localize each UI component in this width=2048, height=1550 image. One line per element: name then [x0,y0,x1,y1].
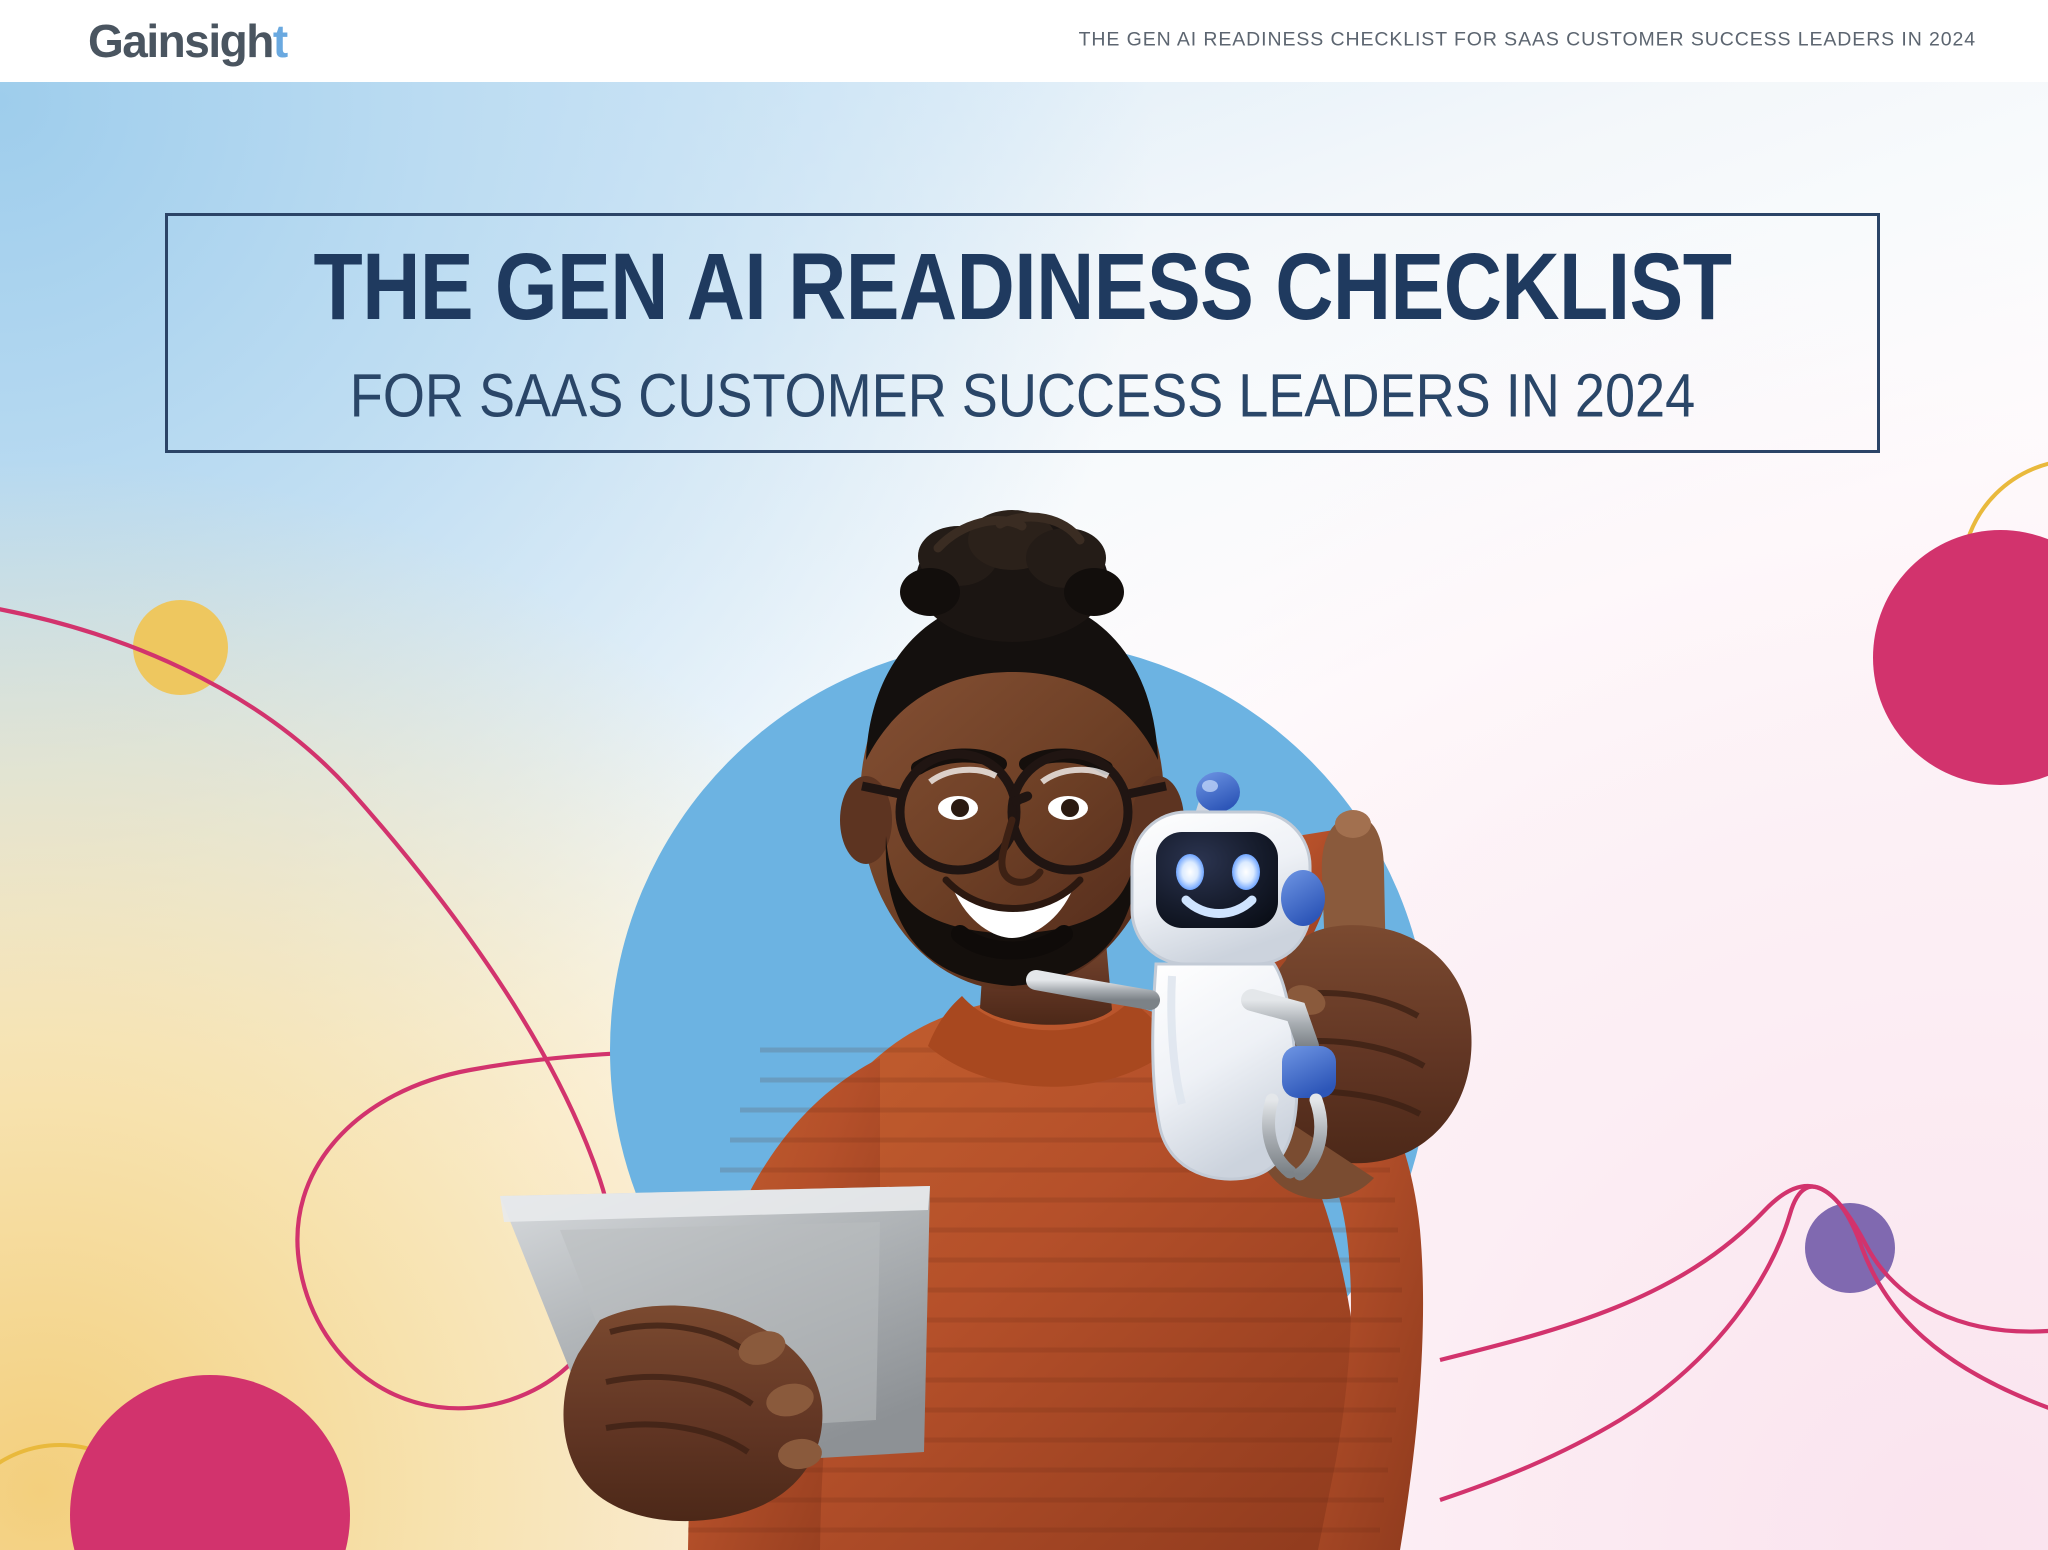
cover-title-line2: FOR SAAS CUSTOMER SUCCESS LEADERS IN 202… [134,366,1911,427]
cover-title-line1: THE GEN AI READINESS CHECKLIST [117,240,1929,335]
page-header: Gainsight THE GEN AI READINESS CHECKLIST… [0,0,2048,82]
gainsight-logo-tail: t [273,15,287,67]
robot-ear-button [1281,870,1325,926]
index-fingertip [1335,810,1371,838]
cover-page: THE GEN AI READINESS CHECKLIST FOR SAAS … [0,0,2048,1550]
robot-eye-right [1232,854,1260,890]
robot-antenna-bulb [1196,772,1240,812]
gainsight-logo-text: Gainsigh [88,15,273,67]
cover-title-box: THE GEN AI READINESS CHECKLIST FOR SAAS … [165,213,1880,453]
pupil-right [1061,799,1079,817]
pupil-left [951,799,969,817]
robot-eye-left [1176,854,1204,890]
robot-antenna-highlight [1202,780,1218,792]
robot-wrist-joint [1282,1046,1336,1098]
running-header-title: THE GEN AI READINESS CHECKLIST FOR SAAS … [1079,29,1976,52]
gainsight-logo[interactable]: Gainsight [88,18,287,64]
